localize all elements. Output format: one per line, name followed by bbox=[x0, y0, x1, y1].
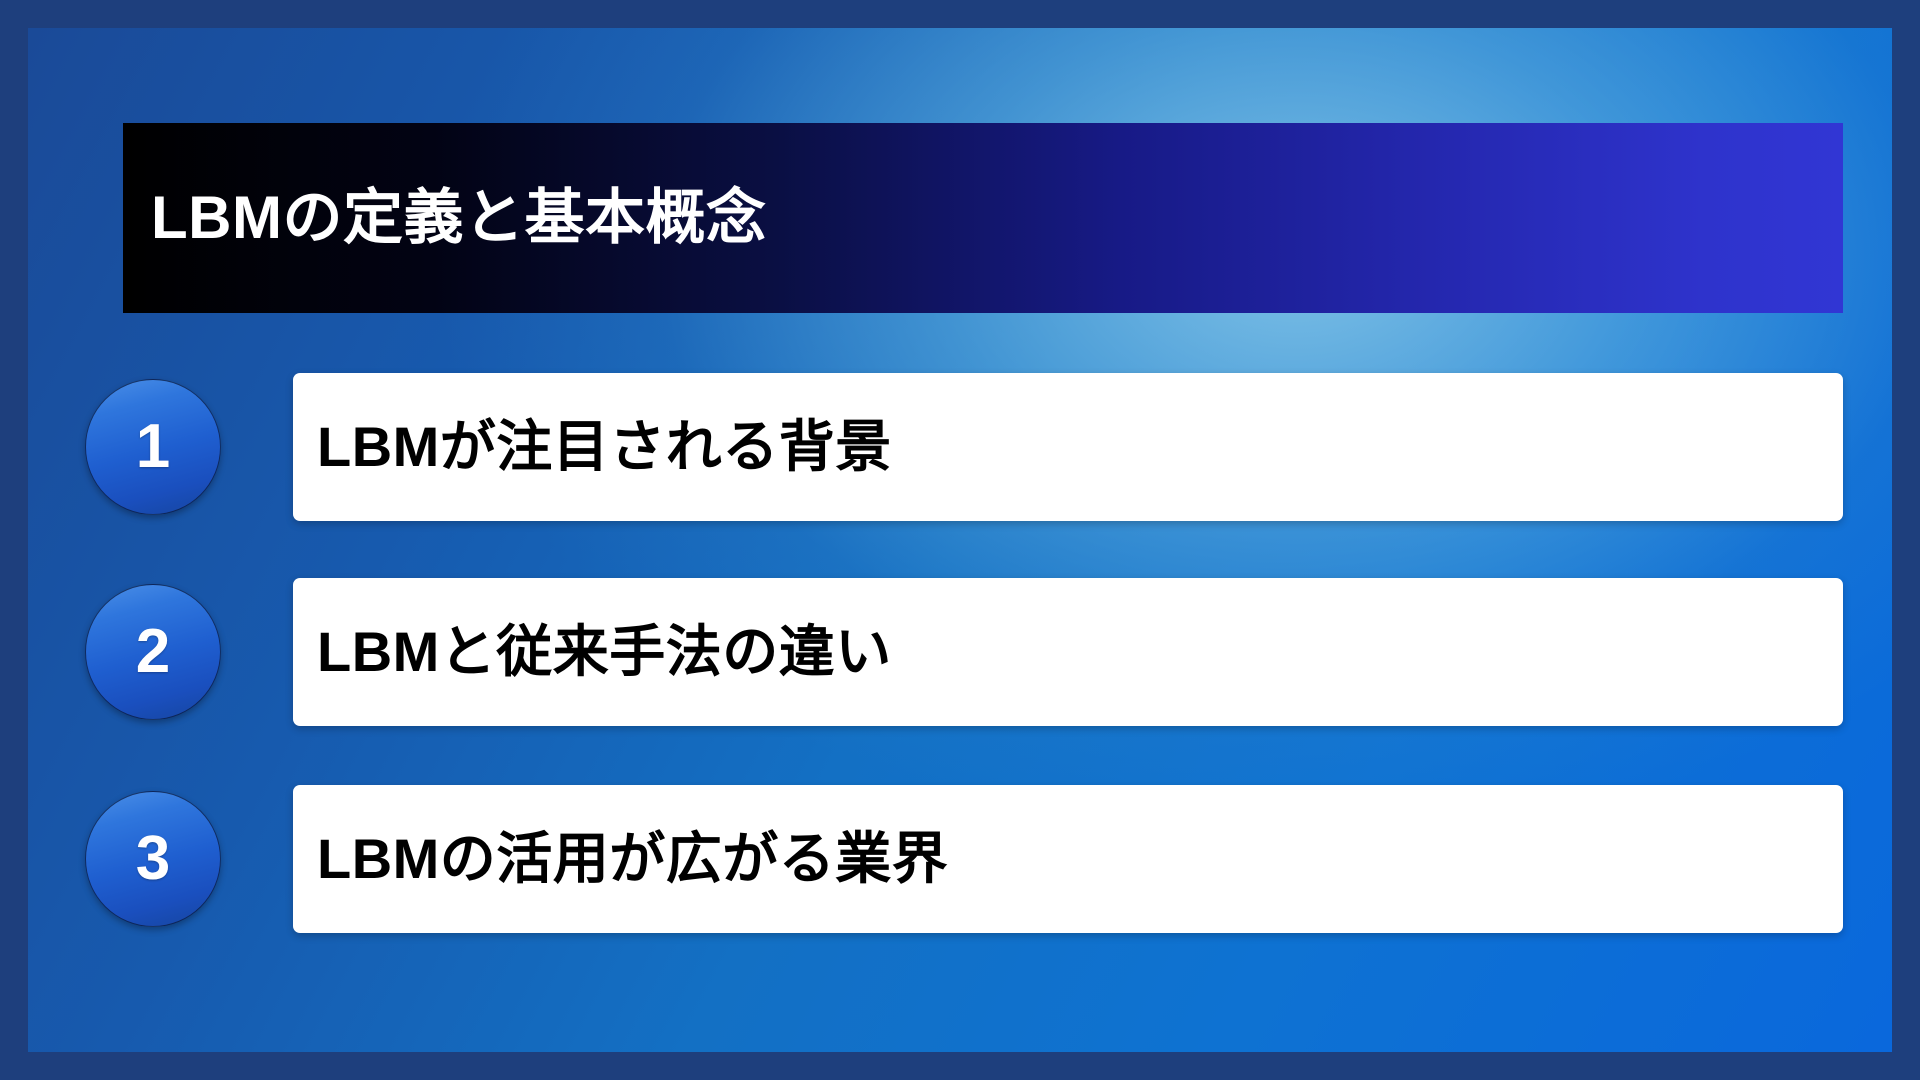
title-banner: LBMの定義と基本概念 bbox=[123, 123, 1843, 313]
list-item[interactable]: 1 LBMが注目される背景 bbox=[28, 373, 1892, 523]
content-card-label: LBMと従来手法の違い bbox=[317, 620, 892, 684]
page-title: LBMの定義と基本概念 bbox=[151, 185, 766, 251]
list-item[interactable]: 2 LBMと従来手法の違い bbox=[28, 578, 1892, 728]
content-card-label: LBMが注目される背景 bbox=[317, 415, 892, 479]
number-badge-label: 3 bbox=[136, 828, 170, 890]
number-badge-1: 1 bbox=[85, 379, 221, 515]
content-card-label: LBMの活用が広がる業界 bbox=[317, 827, 948, 891]
content-card-1[interactable]: LBMが注目される背景 bbox=[293, 373, 1843, 521]
list-item[interactable]: 3 LBMの活用が広がる業界 bbox=[28, 785, 1892, 935]
number-badge-3: 3 bbox=[85, 791, 221, 927]
number-badge-label: 2 bbox=[136, 621, 170, 683]
number-badge-label: 1 bbox=[136, 416, 170, 478]
content-card-2[interactable]: LBMと従来手法の違い bbox=[293, 578, 1843, 726]
slide-canvas: LBMの定義と基本概念 1 LBMが注目される背景 2 LBMと従来手法の違い … bbox=[0, 0, 1920, 1080]
number-badge-2: 2 bbox=[85, 584, 221, 720]
content-card-3[interactable]: LBMの活用が広がる業界 bbox=[293, 785, 1843, 933]
slide-background: LBMの定義と基本概念 1 LBMが注目される背景 2 LBMと従来手法の違い … bbox=[28, 28, 1892, 1052]
